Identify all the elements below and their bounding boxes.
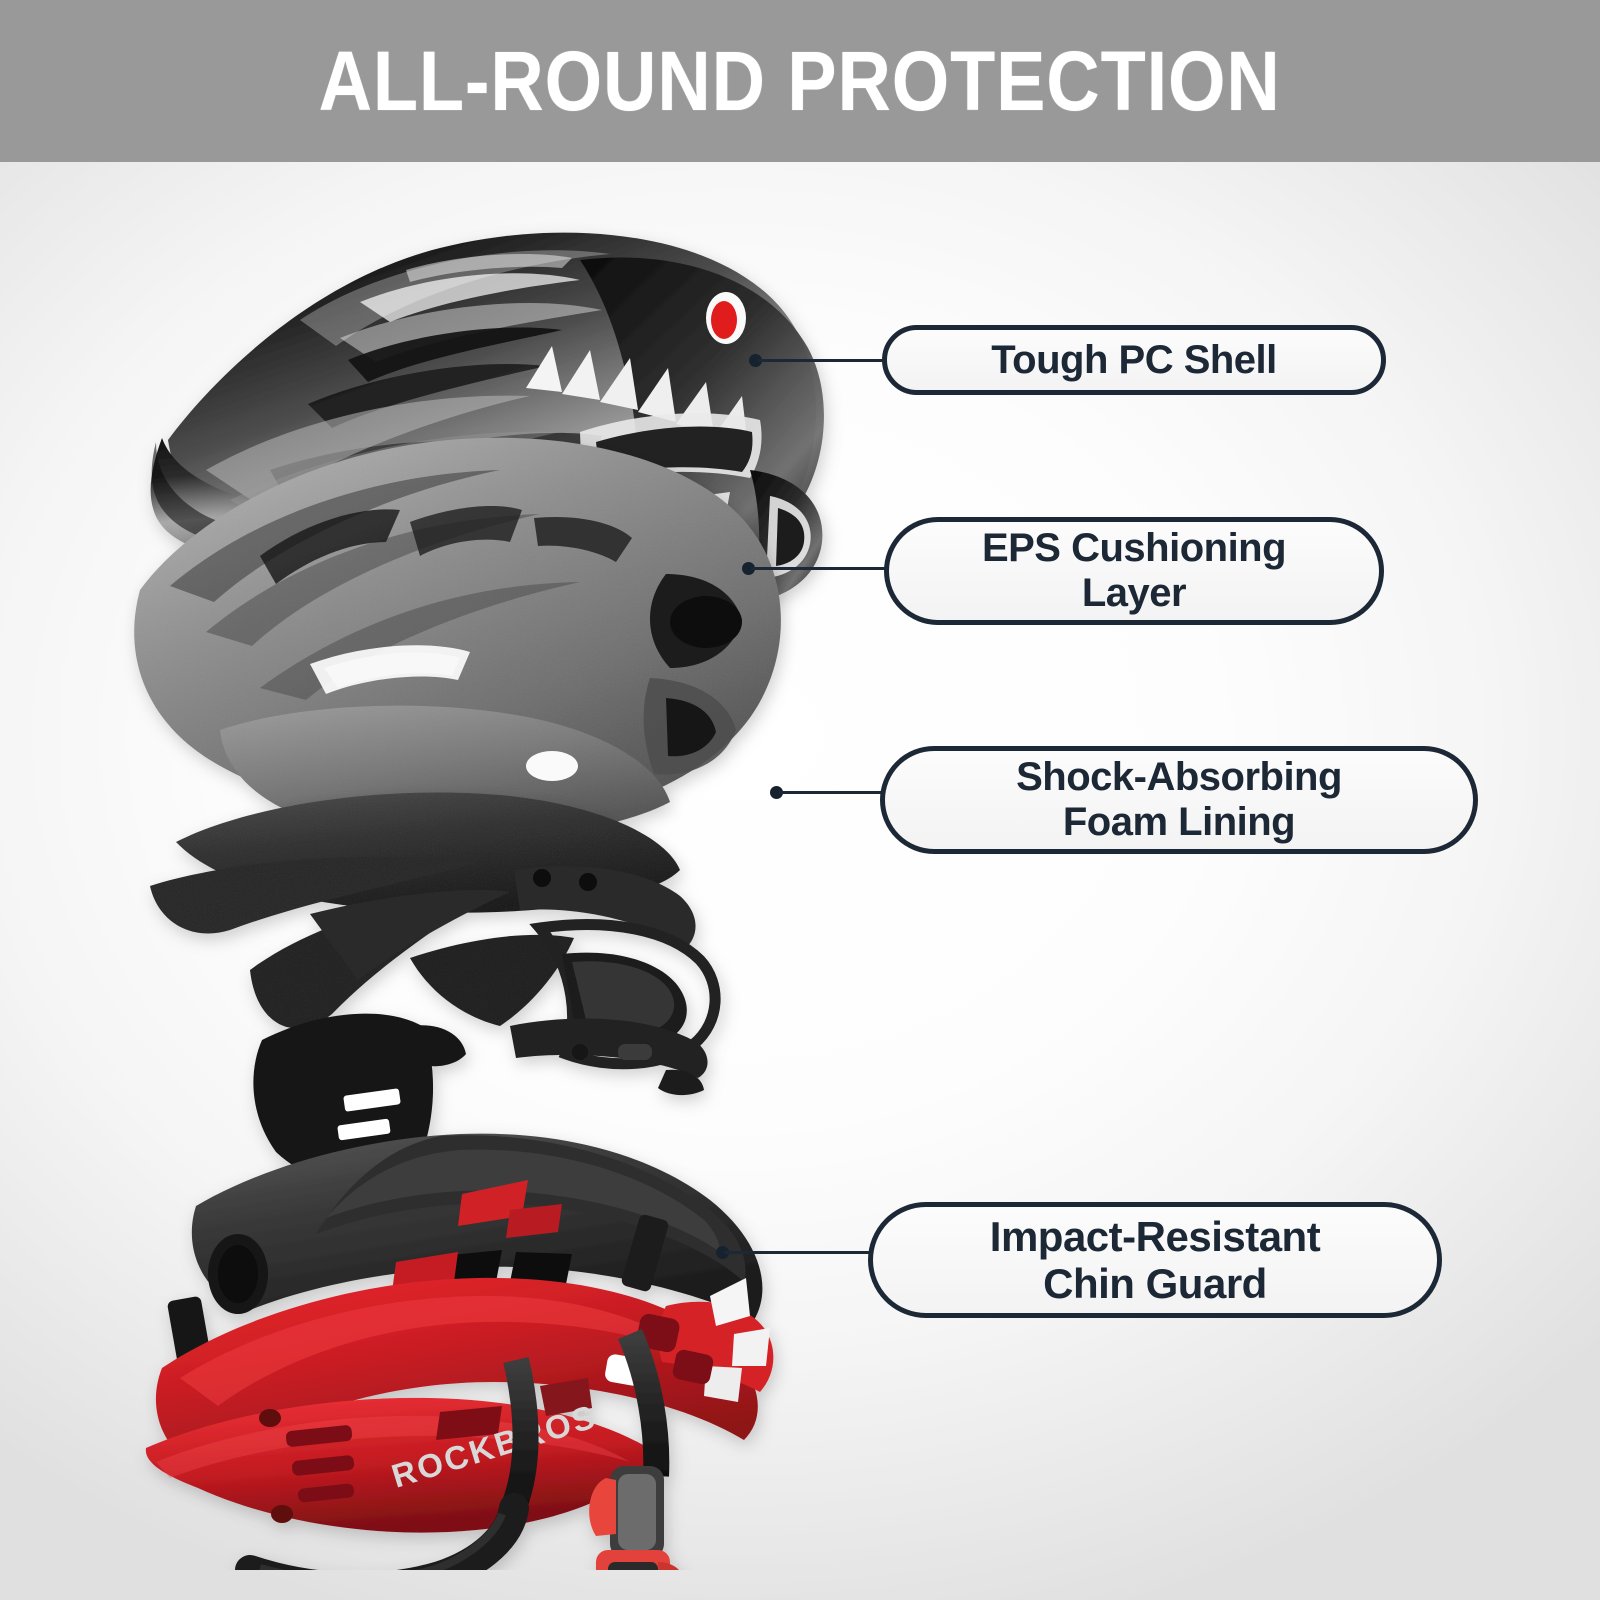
callout-label-2-line-2: Layer <box>1056 571 1212 616</box>
header-bar: ALL-ROUND PROTECTION <box>0 0 1600 162</box>
page-title: ALL-ROUND PROTECTION <box>319 33 1281 130</box>
callout-label-3-line-2: Foam Lining <box>1037 800 1321 845</box>
callout-line-3 <box>779 791 886 794</box>
helmet-exploded-view: ROCKBROS <box>110 170 890 1570</box>
callout-tough-pc-shell[interactable]: Tough PC Shell <box>882 325 1386 395</box>
callout-eps-cushioning-layer[interactable]: EPS Cushioning Layer <box>884 517 1384 625</box>
callout-label-3-line-1: Shock-Absorbing <box>990 755 1368 800</box>
callout-label-1: Tough PC Shell <box>965 338 1303 383</box>
callout-impact-resistant-chin-guard[interactable]: Impact-Resistant Chin Guard <box>868 1202 1442 1318</box>
callout-label-4-line-1: Impact-Resistant <box>964 1213 1346 1260</box>
callout-line-4 <box>725 1251 872 1254</box>
callout-line-1 <box>758 359 886 362</box>
callout-line-2 <box>751 567 888 570</box>
infographic-canvas: ALL-ROUND PROTECTION <box>0 0 1600 1600</box>
layer-chin-guard: ROCKBROS <box>146 1014 774 1570</box>
callout-shock-absorbing-foam-lining[interactable]: Shock-Absorbing Foam Lining <box>880 746 1478 854</box>
callout-label-4-line-2: Chin Guard <box>1017 1260 1293 1307</box>
callout-label-2-line-1: EPS Cushioning <box>956 526 1312 571</box>
